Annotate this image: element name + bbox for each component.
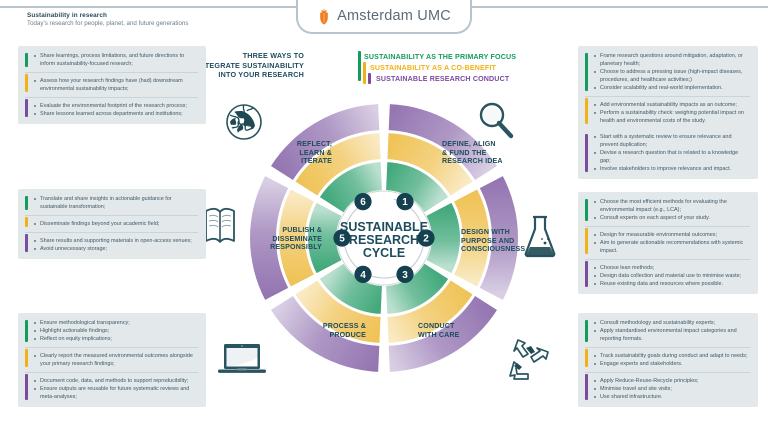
bullet-list: Apply Reduce-Reuse-Recycle principles;Mi… bbox=[594, 377, 750, 401]
bullet-group-purple: Document code, data, and methods to supp… bbox=[25, 372, 198, 401]
center-title-line-3: CYCLE bbox=[363, 246, 405, 260]
legend-entry-research-conduct: SUSTAINABLE RESEARCH CONDUCT bbox=[364, 73, 516, 84]
category-bar-gold bbox=[585, 98, 588, 124]
segment-badge-3[interactable]: 3 bbox=[396, 266, 413, 283]
bullet-item: Consult methodology and sustainability e… bbox=[594, 319, 750, 327]
bullet-group-gold: Design for measurable environmental outc… bbox=[585, 226, 750, 255]
page-title: Sustainability in research bbox=[27, 12, 107, 19]
center-title-line-1: SUSTAINABLE bbox=[340, 220, 428, 234]
bullet-item: Reflect on equity implications; bbox=[34, 335, 198, 343]
category-bar-green bbox=[585, 199, 588, 221]
bullet-item: Design for measurable environmental outc… bbox=[594, 231, 750, 239]
legend-swatch-green bbox=[358, 51, 361, 81]
bullet-item: Apply standardised environmental impact … bbox=[594, 327, 750, 343]
category-bar-purple bbox=[25, 99, 28, 117]
bullet-item: Share results and supporting materials i… bbox=[34, 237, 198, 245]
bullet-item: Assess how your research findings have (… bbox=[34, 77, 198, 93]
bullet-list: Choose the most efficient methods for ev… bbox=[594, 198, 750, 222]
category-bar-green bbox=[25, 53, 28, 67]
bullet-group-green: Consult methodology and sustainability e… bbox=[585, 319, 750, 343]
category-bar-gold bbox=[25, 74, 28, 92]
bullet-item: Choose to address a pressing issue (high… bbox=[594, 68, 750, 84]
bullet-group-gold: Assess how your research findings have (… bbox=[25, 72, 198, 93]
bullet-group-gold: Add environmental sustainability impacts… bbox=[585, 96, 750, 125]
bullet-list: Assess how your research findings have (… bbox=[34, 77, 198, 93]
bullet-item: Share learnings, process limitations, an… bbox=[34, 52, 198, 68]
bullet-item: Consider scalability and real-world impl… bbox=[594, 84, 750, 92]
bullet-item: Aim to generate actionable recommendatio… bbox=[594, 239, 750, 255]
segment-number-3: 3 bbox=[402, 270, 408, 281]
category-bar-gold bbox=[25, 349, 28, 367]
segment-number-6: 6 bbox=[360, 197, 366, 208]
laptop-icon bbox=[215, 340, 269, 380]
brand-logo: Amsterdam UMC bbox=[296, 0, 472, 34]
bullet-list: Track sustainability goals during conduc… bbox=[594, 352, 750, 368]
segment-number-1: 1 bbox=[402, 197, 408, 208]
bullet-item: Avoid unnecessary storage; bbox=[34, 245, 198, 253]
bullet-item: Apply Reduce-Reuse-Recycle principles; bbox=[594, 377, 750, 385]
bullet-item: Involve stakeholders to improve relevanc… bbox=[594, 165, 750, 173]
bullet-group-purple: Choose lean methods;Design data collecti… bbox=[585, 259, 750, 288]
segment-label-6: REFLECT, LEARN & ITERATE bbox=[256, 140, 332, 166]
segment-label-5: PUBLISH & DISSEMINATE RESPONSIBLY bbox=[234, 226, 322, 252]
bullet-item: Use shared infrastructure. bbox=[594, 393, 750, 401]
center-title-line-2: RESEARCH bbox=[349, 233, 419, 247]
magnifier-icon bbox=[474, 100, 518, 144]
category-bar-green bbox=[585, 53, 588, 91]
bullet-item: Translate and share insights in actionab… bbox=[34, 195, 198, 211]
category-bar-gold bbox=[585, 349, 588, 367]
bullet-item: Engage experts and stakeholders. bbox=[594, 360, 750, 368]
bullet-list: Clearly report the measured environmenta… bbox=[34, 352, 198, 368]
segment-number-4: 4 bbox=[360, 270, 366, 281]
bullet-item: Share lessons learned across departments… bbox=[34, 110, 198, 118]
legend-entry-co-benefit: SUSTAINABILITY AS A CO-BENEFIT bbox=[364, 62, 516, 73]
bullet-list: Disseminate findings beyond your academi… bbox=[34, 220, 198, 228]
category-bar-purple bbox=[585, 261, 588, 287]
category-bar-purple bbox=[585, 134, 588, 172]
bullet-item: Ensure methodological transparency; bbox=[34, 319, 198, 327]
infographic-page: Amsterdam UMC Sustainability in research… bbox=[0, 0, 768, 432]
bullet-item: Perform a sustainability check: weighing… bbox=[594, 109, 750, 125]
book-icon bbox=[203, 205, 237, 247]
brand-name: Amsterdam UMC bbox=[337, 8, 451, 24]
bullet-panel-define-align-fund: Frame research questions around mitigati… bbox=[578, 46, 758, 131]
bullet-list: Share results and supporting materials i… bbox=[34, 237, 198, 253]
category-bar-green bbox=[585, 320, 588, 342]
globe-icon bbox=[222, 100, 266, 144]
category-bar-green bbox=[25, 196, 28, 210]
bullet-group-green: Frame research questions around mitigati… bbox=[585, 52, 750, 92]
legend-swatch-purple bbox=[368, 73, 371, 84]
flask-icon bbox=[519, 212, 561, 260]
bullet-list: Design for measurable environmental outc… bbox=[594, 231, 750, 255]
segment-badge-1[interactable]: 1 bbox=[396, 193, 413, 210]
bullet-list: Start with a systematic review to ensure… bbox=[594, 133, 750, 173]
bullet-item: Disseminate findings beyond your academi… bbox=[34, 220, 198, 228]
bullet-item: Highlight actionable findings; bbox=[34, 327, 198, 335]
bullet-item: Frame research questions around mitigati… bbox=[594, 52, 750, 68]
bullet-list: Ensure methodological transparency;Highl… bbox=[34, 319, 198, 343]
bullet-list: Add environmental sustainability impacts… bbox=[594, 101, 750, 125]
bullet-item: Evaluate the environmental footprint of … bbox=[34, 102, 198, 110]
bullet-item: Choose lean methods; bbox=[594, 264, 750, 272]
bullet-list: Translate and share insights in actionab… bbox=[34, 195, 198, 211]
bullet-list: Frame research questions around mitigati… bbox=[594, 52, 750, 92]
bullet-item: Start with a systematic review to ensure… bbox=[594, 133, 750, 149]
bullet-group-gold: Track sustainability goals during conduc… bbox=[585, 347, 750, 368]
bullet-group-purple: Apply Reduce-Reuse-Recycle principles;Mi… bbox=[585, 372, 750, 401]
bullet-list: Consult methodology and sustainability e… bbox=[594, 319, 750, 343]
segment-badge-6[interactable]: 6 bbox=[354, 193, 371, 210]
segment-number-2: 2 bbox=[423, 233, 429, 244]
bullet-panel-design-with-purpose: Choose the most efficient methods for ev… bbox=[578, 192, 758, 294]
bullet-group-green: Ensure methodological transparency;Highl… bbox=[25, 319, 198, 343]
bullet-panel-reflect-learn-iterate: Share learnings, process limitations, an… bbox=[18, 46, 206, 124]
bullet-item: Track sustainability goals during conduc… bbox=[594, 352, 750, 360]
category-bar-gold bbox=[585, 228, 588, 254]
tulip-icon bbox=[317, 7, 331, 25]
bullet-group-green: Choose the most efficient methods for ev… bbox=[585, 198, 750, 222]
bullet-list: Choose lean methods;Design data collecti… bbox=[594, 264, 750, 288]
bullet-group-gold: Clearly report the measured environmenta… bbox=[25, 347, 198, 368]
recycle-icon bbox=[508, 336, 556, 382]
bullet-item: Consult experts on each aspect of your s… bbox=[594, 214, 750, 222]
legend-entries: SUSTAINABILITY AS THE PRIMARY FOCUS SUST… bbox=[364, 51, 516, 84]
bullet-item: Add environmental sustainability impacts… bbox=[594, 101, 750, 109]
category-bar-purple bbox=[585, 374, 588, 400]
category-bar-purple bbox=[25, 234, 28, 252]
bullet-group-purple: Share results and supporting materials i… bbox=[25, 232, 198, 253]
page-subtitle: Today's research for people, planet, and… bbox=[27, 20, 188, 27]
bullet-panel-conduct-with-care: Consult methodology and sustainability e… bbox=[578, 313, 758, 407]
bullet-group-green: Share learnings, process limitations, an… bbox=[25, 52, 198, 68]
bullet-group-gold: Disseminate findings beyond your academi… bbox=[25, 215, 198, 228]
bullet-item: Minimise travel and site visits; bbox=[594, 385, 750, 393]
category-bar-green bbox=[25, 320, 28, 342]
bullet-panel-define-align-fund-conduct: Start with a systematic review to ensure… bbox=[578, 127, 758, 179]
bullet-item: Document code, data, and methods to supp… bbox=[34, 377, 198, 385]
segment-number-5: 5 bbox=[339, 233, 345, 244]
bullet-item: Devise a research question that is relat… bbox=[594, 149, 750, 165]
segment-label-3: CONDUCT WITH CARE bbox=[418, 322, 488, 339]
bullet-group-green: Translate and share insights in actionab… bbox=[25, 195, 198, 211]
bullet-item: Choose the most efficient methods for ev… bbox=[594, 198, 750, 214]
bullet-panel-publish-disseminate-responsibly: Translate and share insights in actionab… bbox=[18, 189, 206, 259]
bullet-group-purple: Evaluate the environmental footprint of … bbox=[25, 97, 198, 118]
legend: THREE WAYS TO INTEGRATE SUSTAINABILITY I… bbox=[240, 49, 540, 93]
segment-label-4: PROCESS & PRODUCE bbox=[292, 322, 366, 339]
bullet-item: Clearly report the measured environmenta… bbox=[34, 352, 198, 368]
bullet-list: Evaluate the environmental footprint of … bbox=[34, 102, 198, 118]
bullet-group-purple: Start with a systematic review to ensure… bbox=[585, 133, 750, 173]
category-bar-gold bbox=[25, 217, 28, 227]
legend-entry-primary-focus: SUSTAINABILITY AS THE PRIMARY FOCUS bbox=[364, 51, 516, 62]
category-bar-purple bbox=[25, 374, 28, 400]
bullet-list: Share learnings, process limitations, an… bbox=[34, 52, 198, 68]
bullet-panel-process-produce: Ensure methodological transparency;Highl… bbox=[18, 313, 206, 407]
segment-badge-4[interactable]: 4 bbox=[354, 266, 371, 283]
bullet-item: Design data collection and material use … bbox=[594, 272, 750, 280]
bullet-list: Document code, data, and methods to supp… bbox=[34, 377, 198, 401]
bullet-item: Reuse existing data and resources where … bbox=[594, 280, 750, 288]
bullet-item: Ensure outputs are reusable for future s… bbox=[34, 385, 198, 401]
